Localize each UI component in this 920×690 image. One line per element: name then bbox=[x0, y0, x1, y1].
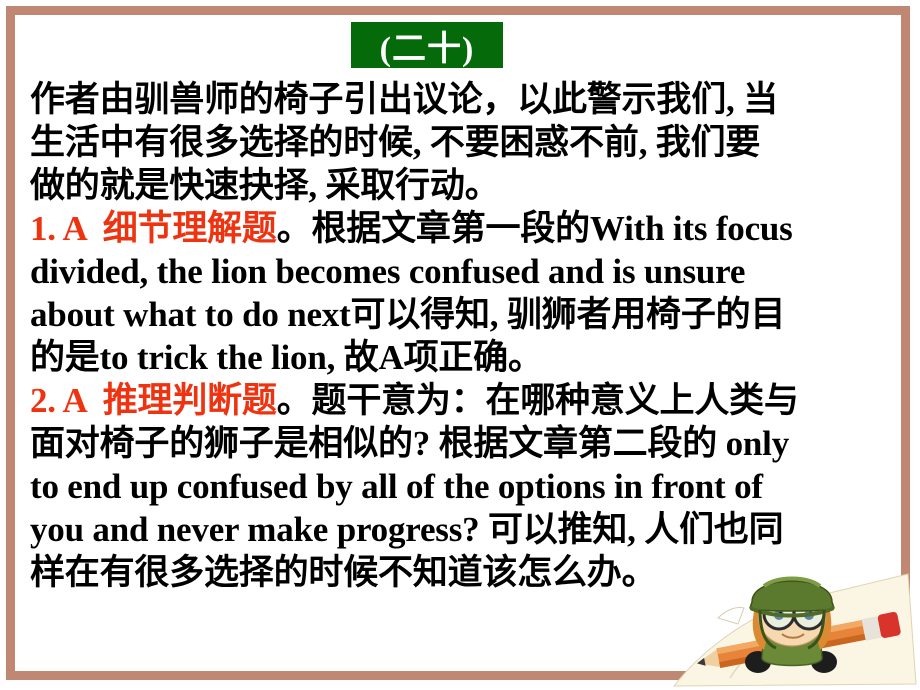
slide-title-text: (二十) bbox=[380, 21, 475, 70]
text-line: about what to do next可以得知, 驯狮者用椅子的目 bbox=[30, 293, 892, 336]
text-line-question-1: 1. A 细节理解题。根据文章第一段的With its focus bbox=[30, 207, 892, 250]
line-text: 。根据文章第一段的With its focus bbox=[277, 209, 793, 248]
text-line: 面对椅子的狮子是相似的? 根据文章第二段的 only bbox=[30, 422, 892, 465]
text-line: 的是to trick the lion, 故A项正确。 bbox=[30, 336, 892, 379]
text-line: 样在有很多选择的时候不知道该怎么办。 bbox=[30, 551, 892, 594]
line-text: 做的就是快速抉择, 采取行动。 bbox=[30, 166, 500, 205]
question-2-label: 2. A 推理判断题 bbox=[30, 381, 277, 420]
line-text: divided, the lion becomes confused and i… bbox=[30, 252, 745, 291]
text-line: 做的就是快速抉择, 采取行动。 bbox=[30, 164, 892, 207]
text-line: 生活中有很多选择的时候, 不要困惑不前, 我们要 bbox=[30, 121, 892, 164]
question-1-label: 1. A 细节理解题 bbox=[30, 209, 277, 248]
text-line: you and never make progress? 可以推知, 人们也同 bbox=[30, 508, 892, 551]
line-text: 面对椅子的狮子是相似的? 根据文章第二段的 only bbox=[30, 424, 789, 463]
line-text: 生活中有很多选择的时候, 不要困惑不前, 我们要 bbox=[30, 123, 760, 162]
text-line: to end up confused by all of the options… bbox=[30, 465, 892, 508]
text-line: divided, the lion becomes confused and i… bbox=[30, 250, 892, 293]
slide-title-chip: (二十) bbox=[351, 22, 503, 68]
line-text: about what to do next可以得知, 驯狮者用椅子的目 bbox=[30, 295, 785, 334]
line-text: 作者由驯兽师的椅子引出议论，以此警示我们, 当 bbox=[30, 80, 778, 119]
text-line: 作者由驯兽师的椅子引出议论，以此警示我们, 当 bbox=[30, 78, 892, 121]
line-text: 。题干意为：在哪种意义上人类与 bbox=[277, 381, 799, 420]
line-text: 的是to trick the lion, 故A项正确。 bbox=[30, 338, 543, 377]
line-text: 样在有很多选择的时候不知道该怎么办。 bbox=[30, 553, 656, 592]
slide-canvas: (二十) 作者由驯兽师的椅子引出议论，以此警示我们, 当 生活中有很多选择的时候… bbox=[0, 0, 920, 690]
text-line-question-2: 2. A 推理判断题。题干意为：在哪种意义上人类与 bbox=[30, 379, 892, 422]
answer-explanation-body: 作者由驯兽师的椅子引出议论，以此警示我们, 当 生活中有很多选择的时候, 不要困… bbox=[30, 78, 892, 594]
line-text: to end up confused by all of the options… bbox=[30, 467, 763, 506]
line-text: you and never make progress? 可以推知, 人们也同 bbox=[30, 510, 784, 549]
